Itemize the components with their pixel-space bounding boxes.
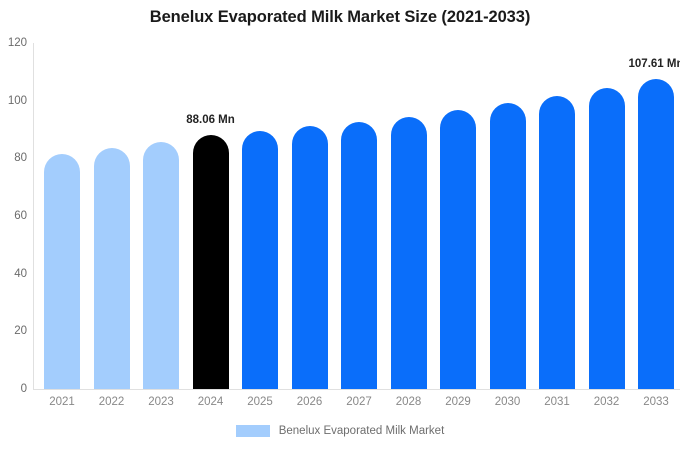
x-axis-tick-label-2021: 2021 [49,396,75,408]
bar-2023[interactable] [143,142,179,389]
x-axis-tick-label-2026: 2026 [297,396,323,408]
x-axis-line [33,389,680,390]
bar-2031[interactable] [539,96,575,389]
x-axis-tick-label-2025: 2025 [247,396,273,408]
legend-label-benelux-evaporated-milk-market: Benelux Evaporated Milk Market [279,425,445,437]
bar-2025[interactable] [242,131,278,389]
chart-title: Benelux Evaporated Milk Market Size (202… [0,8,680,27]
bar-2022[interactable] [94,148,130,389]
y-axis-tick-label: 80 [0,152,27,164]
bar-2024[interactable] [193,135,229,389]
bar-2028[interactable] [391,117,427,389]
x-axis-tick-label-2030: 2030 [495,396,521,408]
bar-2033[interactable] [638,79,674,389]
bar-chart: Benelux Evaporated Milk Market Size (202… [0,0,680,450]
bar-2029[interactable] [440,110,476,389]
bar-2032[interactable] [589,88,625,389]
plot-area [33,43,680,389]
y-axis-tick-label: 0 [0,383,27,395]
value-label-2024: 88.06 Mn [186,114,235,126]
x-axis-tick-label-2031: 2031 [544,396,570,408]
legend-swatch-benelux-evaporated-milk-market [236,425,270,437]
y-axis-tick-label: 40 [0,268,27,280]
x-axis-tick-label-2028: 2028 [396,396,422,408]
x-axis-tick-label-2024: 2024 [198,396,224,408]
bar-2026[interactable] [292,126,328,389]
bar-2030[interactable] [490,103,526,389]
y-axis-tick-label: 20 [0,325,27,337]
bar-2027[interactable] [341,122,377,389]
y-axis-tick-labels: 020406080100120 [0,0,28,450]
x-axis-tick-label-2023: 2023 [148,396,174,408]
x-axis-tick-label-2029: 2029 [445,396,471,408]
x-axis-tick-label-2027: 2027 [346,396,372,408]
x-axis-tick-label-2033: 2033 [643,396,669,408]
x-axis-tick-label-2022: 2022 [99,396,125,408]
y-axis-tick-label: 60 [0,210,27,222]
bar-2021[interactable] [44,154,80,389]
chart-legend: Benelux Evaporated Milk Market [0,425,680,437]
y-axis-tick-label: 100 [0,95,27,107]
value-label-2033: 107.61 Mn [629,58,680,70]
x-axis-tick-label-2032: 2032 [594,396,620,408]
y-axis-tick-label: 120 [0,37,27,49]
